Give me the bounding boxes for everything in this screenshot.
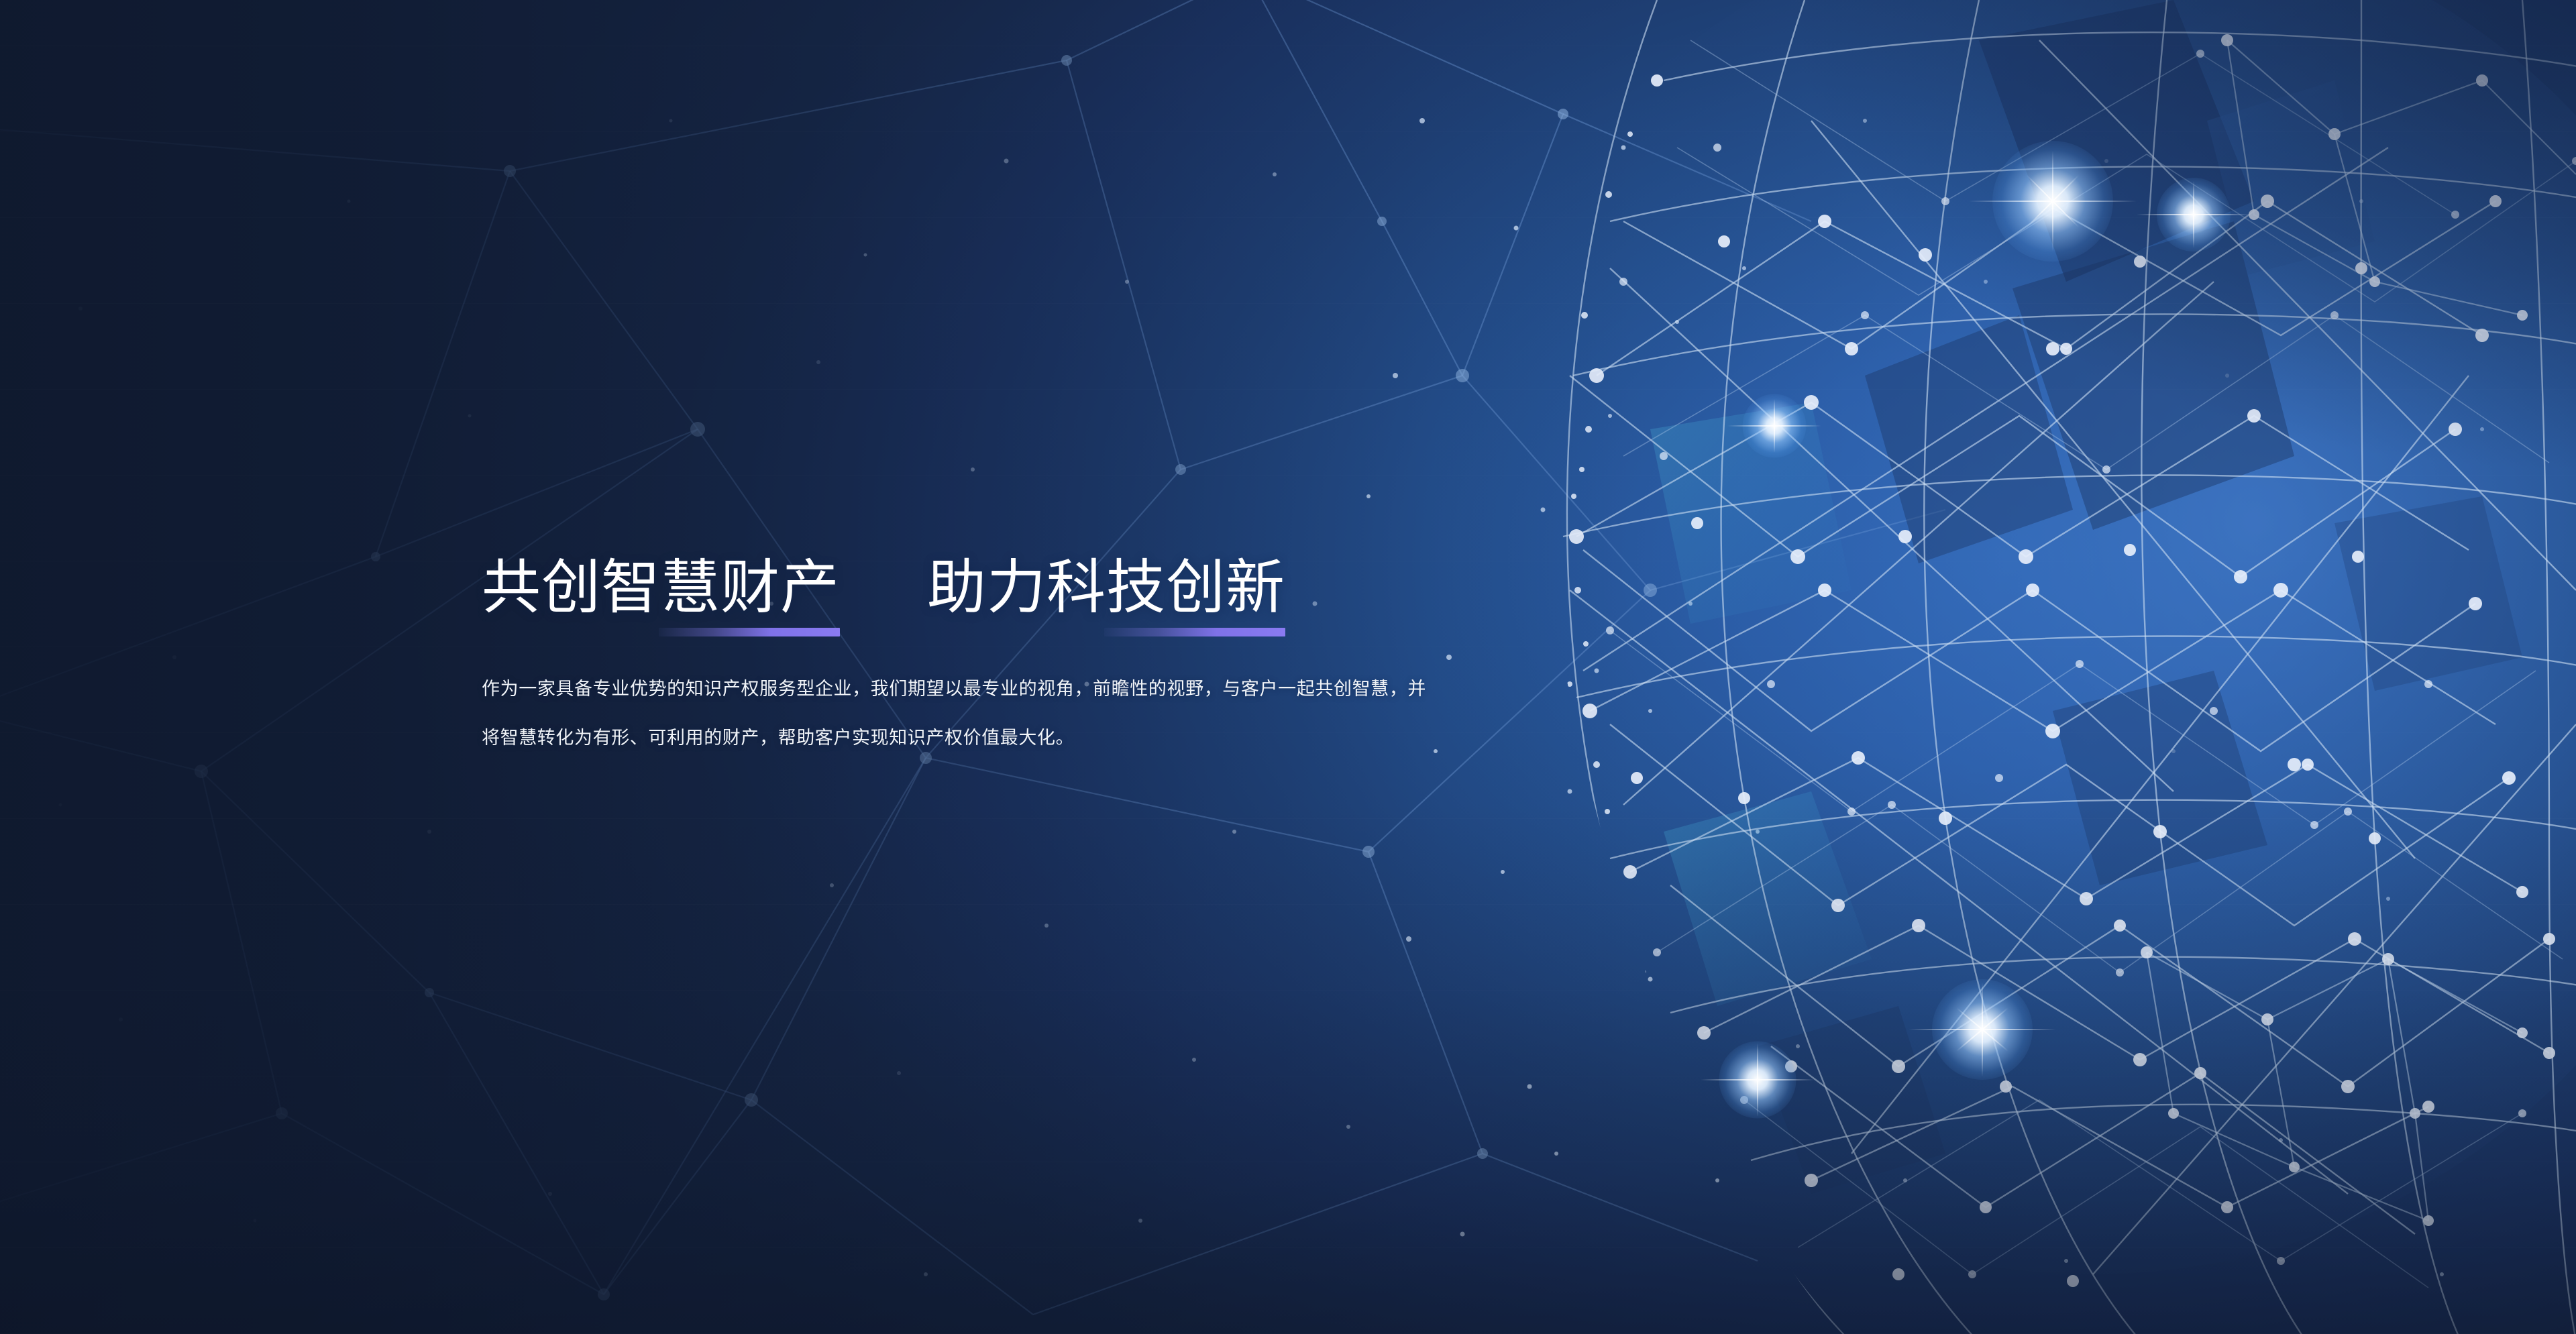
hero-headline: 共创智慧财产 助力科技创新 [482, 555, 1434, 619]
hero-text-block: 共创智慧财产 助力科技创新 作为一家具备专业优势的知识产权服务型企业，我们期望以… [482, 555, 1434, 781]
hero-banner: 共创智慧财产 助力科技创新 作为一家具备专业优势的知识产权服务型企业，我们期望以… [0, 0, 2576, 1334]
headline-phrase-2: 助力科技创新 [927, 555, 1285, 619]
hero-body-paragraph: 作为一家具备专业优势的知识产权服务型企业，我们期望以最专业的视角，前瞻性的视野，… [482, 665, 1426, 763]
headline-phrase-1: 共创智慧财产 [482, 555, 840, 619]
accent-underline-bar-2 [1104, 628, 1285, 636]
headline-phrase-1-text: 共创智慧财产 [482, 555, 840, 619]
accent-underline-bar-1 [659, 628, 840, 636]
headline-phrase-2-text: 助力科技创新 [927, 555, 1285, 619]
